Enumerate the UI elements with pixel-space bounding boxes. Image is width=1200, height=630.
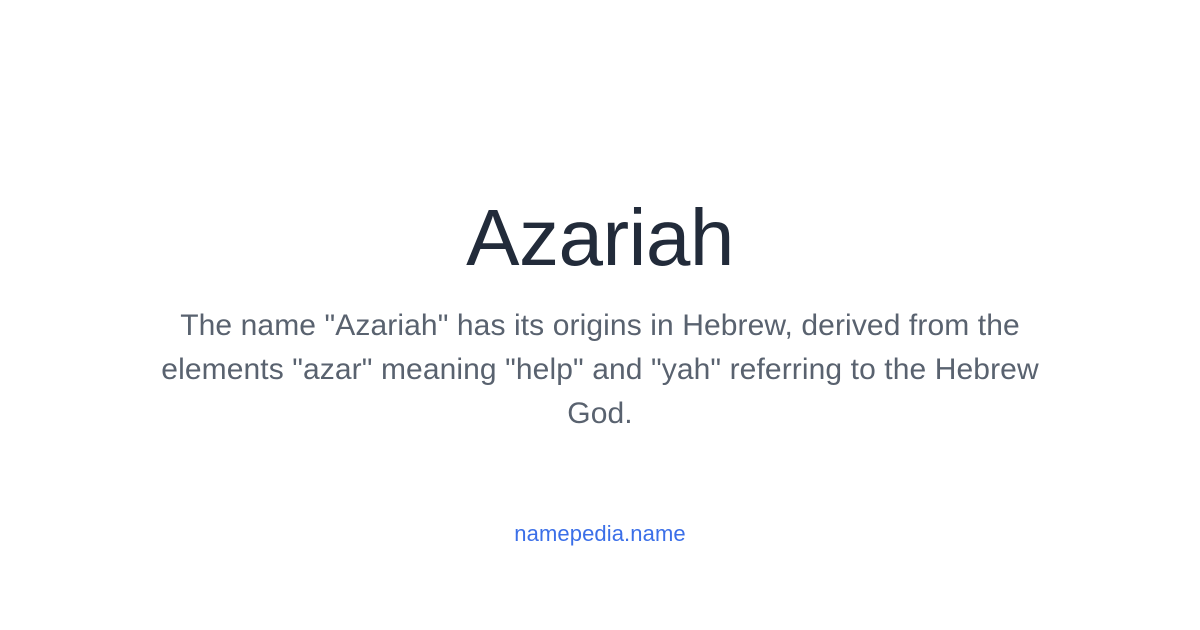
site-domain-link[interactable]: namepedia.name [514,519,685,549]
card-content-block: Azariah The name "Azariah" has its origi… [0,186,1200,436]
name-meaning-og-card: Azariah The name "Azariah" has its origi… [0,0,1200,630]
name-description-text: The name "Azariah" has its origins in He… [150,304,1050,436]
page-title: Azariah [466,186,734,290]
card-footer: namepedia.name [0,519,1200,549]
